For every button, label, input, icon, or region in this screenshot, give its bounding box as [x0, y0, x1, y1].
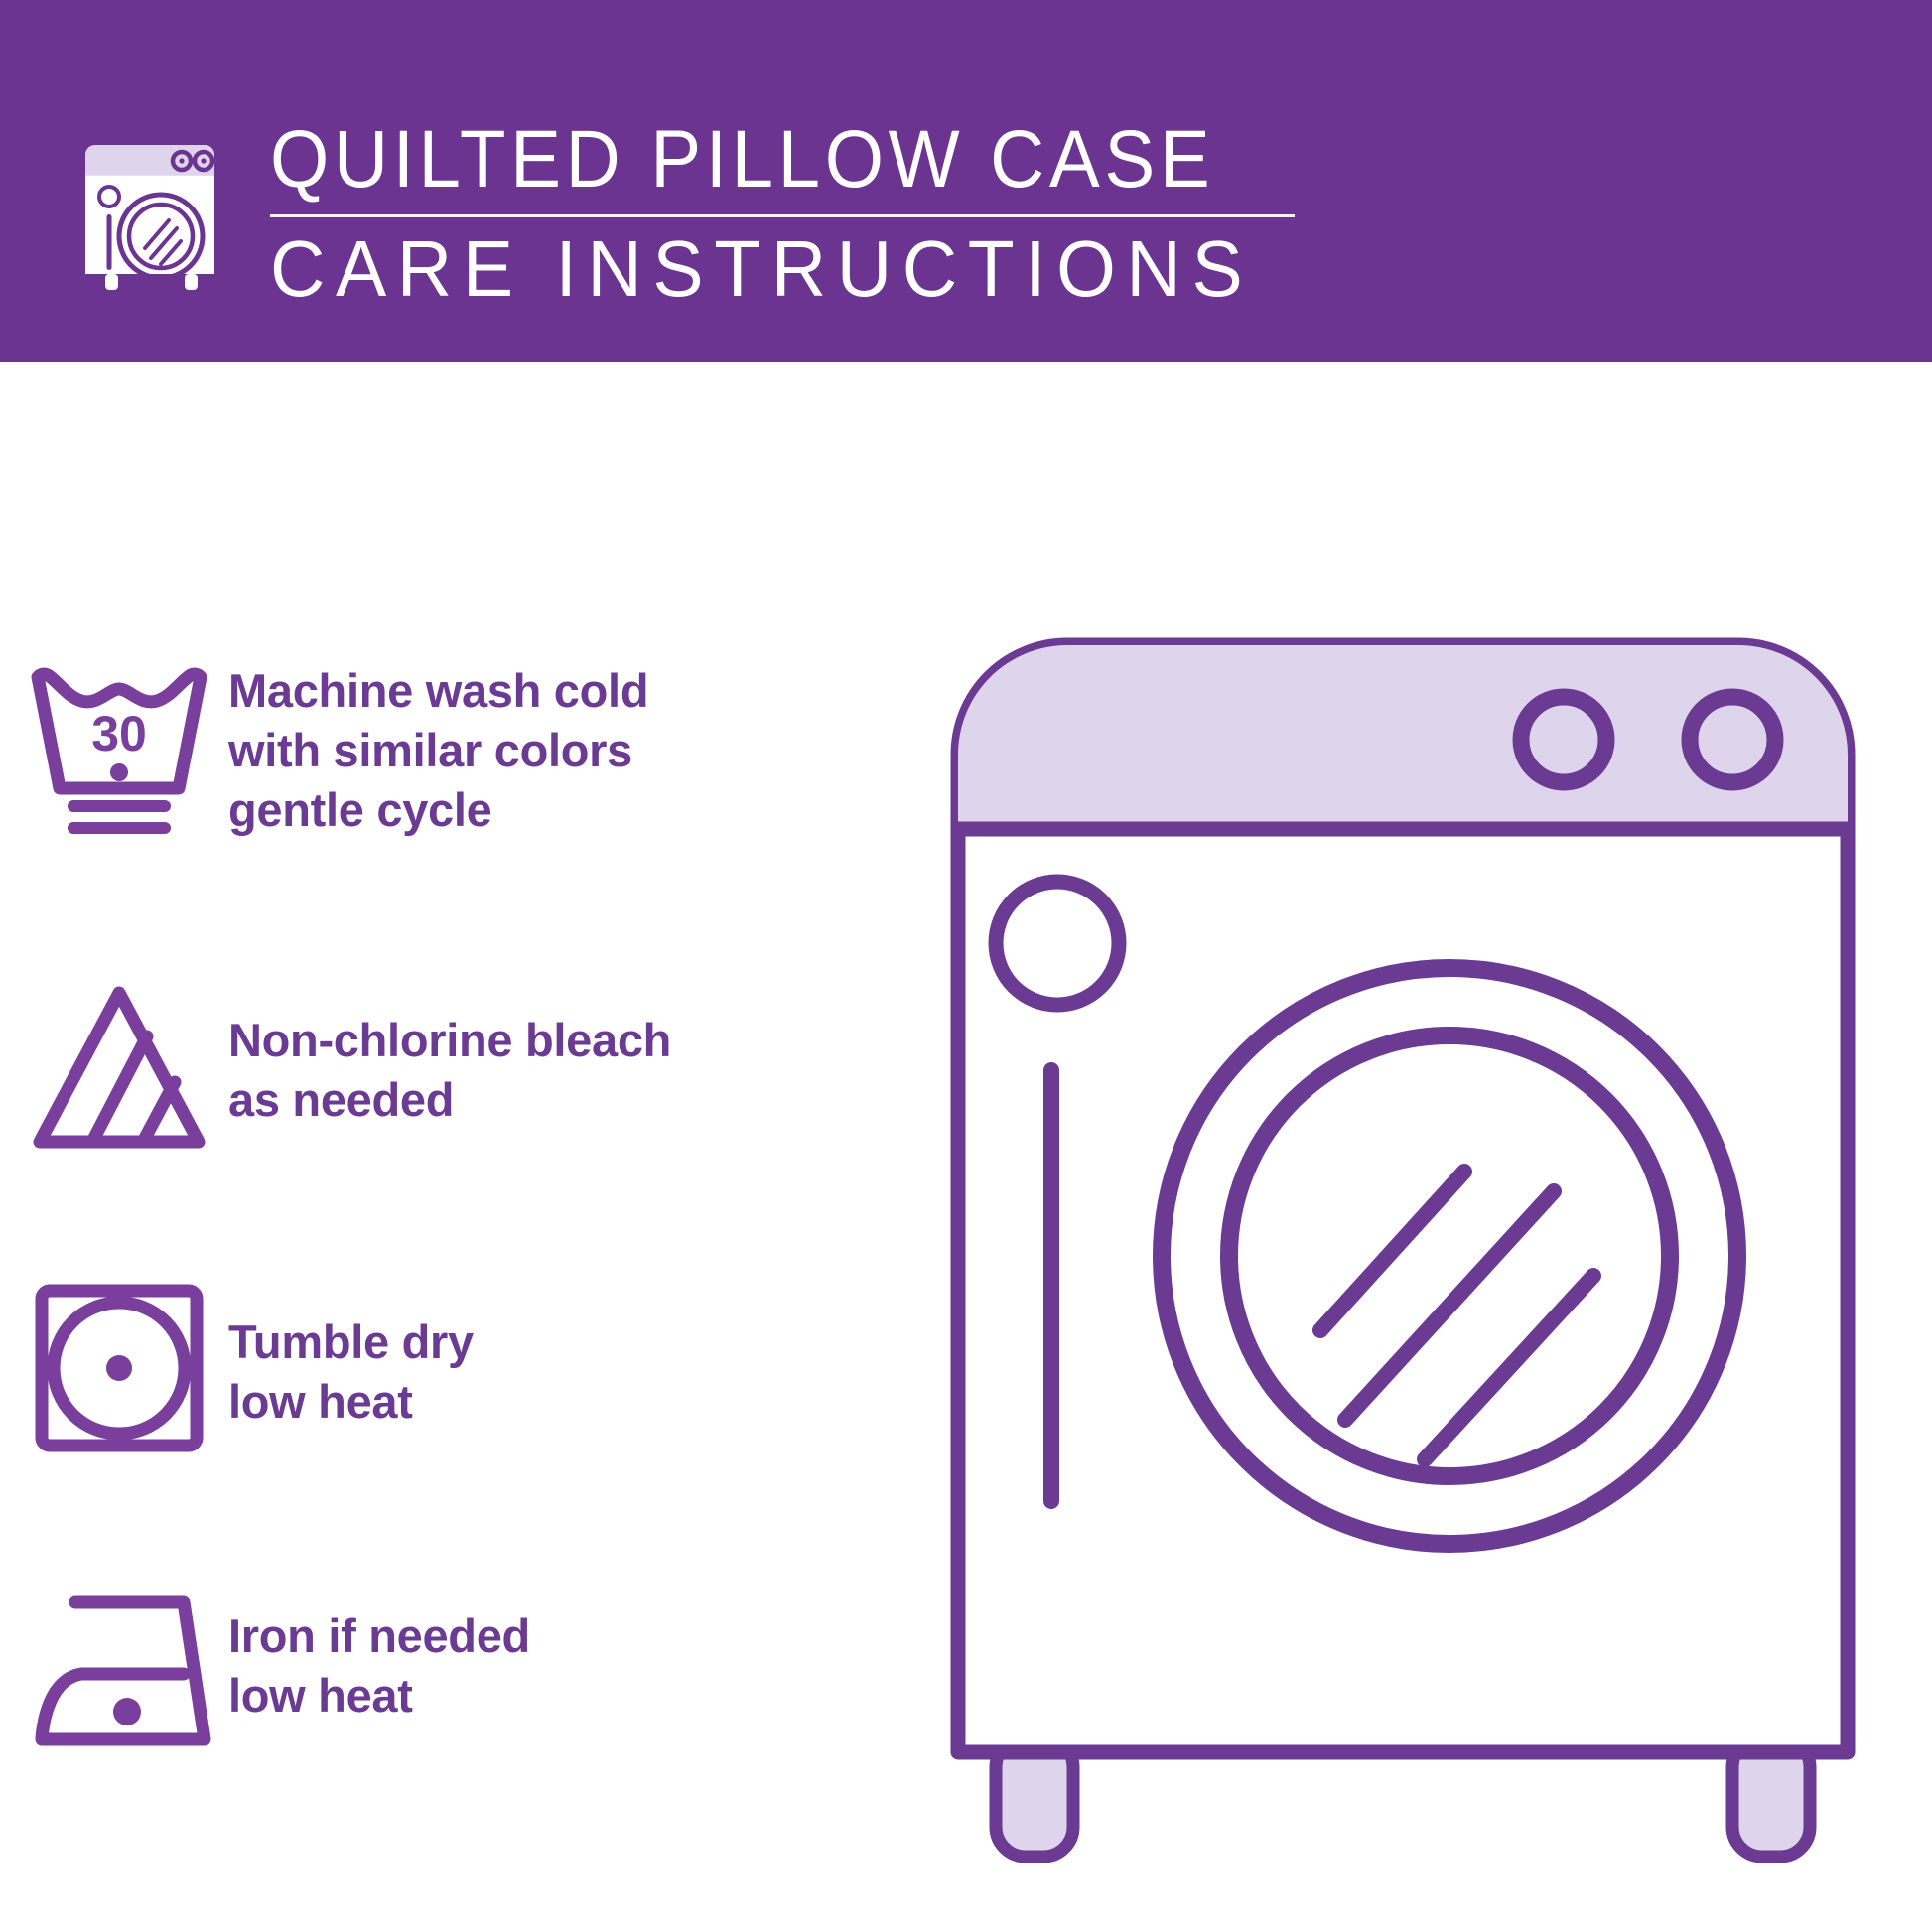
page-title: QUILTED PILLOW CASE — [270, 119, 1240, 201]
tumble-dry-low-icon — [0, 1251, 228, 1457]
care-label-line: Machine wash cold — [228, 661, 648, 721]
care-row: Tumble dry low heat — [0, 1251, 874, 1549]
care-label: Machine wash cold with similar colors ge… — [228, 655, 648, 840]
page-subtitle: CARE INSTRUCTIONS — [270, 229, 1271, 309]
care-label-line: Iron if needed — [228, 1606, 530, 1666]
care-instruction-list: 30 Machine wash cold with similar colors… — [0, 655, 874, 1847]
care-label-line: with similar colors — [228, 721, 648, 780]
care-label-line: Non-chlorine bleach — [228, 1011, 671, 1070]
care-label: Iron if needed low heat — [228, 1549, 530, 1725]
care-row: Non-chlorine bleach as needed — [0, 953, 874, 1251]
care-row: Iron if needed low heat — [0, 1549, 874, 1847]
care-label-line: as needed — [228, 1070, 671, 1130]
header-title-group: QUILTED PILLOW CASE CARE INSTRUCTIONS — [270, 119, 1312, 309]
care-label-line: Tumble dry — [228, 1312, 474, 1372]
care-label-line: gentle cycle — [228, 780, 648, 840]
care-label-line: low heat — [228, 1372, 474, 1432]
iron-low-heat-icon — [0, 1549, 228, 1754]
care-label: Tumble dry low heat — [228, 1251, 474, 1432]
care-label: Non-chlorine bleach as needed — [228, 953, 671, 1130]
washing-machine-icon — [81, 127, 232, 291]
non-chlorine-bleach-triangle-icon — [0, 953, 228, 1164]
title-divider — [270, 214, 1295, 217]
care-row: 30 Machine wash cold with similar colors… — [0, 655, 874, 953]
wash-tub-30-icon: 30 — [0, 655, 228, 854]
large-washing-machine-illustration — [948, 635, 1862, 1866]
care-label-line: low heat — [228, 1666, 530, 1725]
header-banner: QUILTED PILLOW CASE CARE INSTRUCTIONS — [0, 0, 1932, 362]
svg-text:30: 30 — [91, 706, 147, 761]
